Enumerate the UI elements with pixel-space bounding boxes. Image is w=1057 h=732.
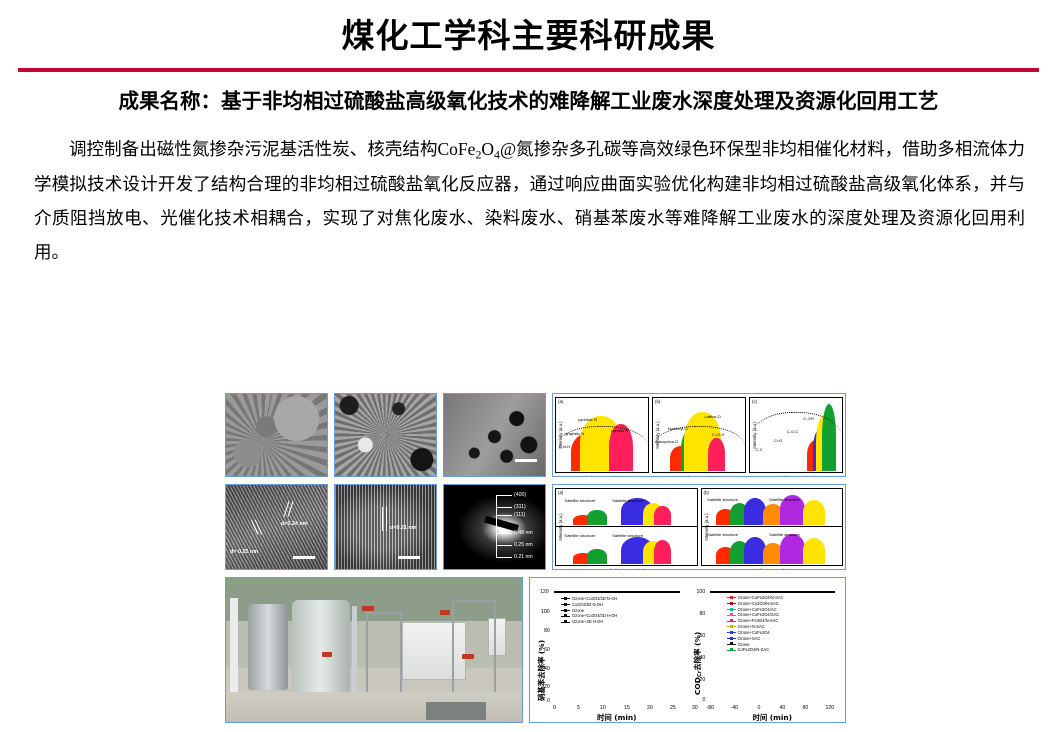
xps-panel-row-1: (a) Intensity (a.u.) pyridinic N graphit… <box>552 393 846 477</box>
saed-d-label-021: 0.21 nm <box>514 554 533 560</box>
legend-marker-icon <box>727 644 736 645</box>
xps-tag-co: (a) <box>558 490 563 495</box>
legend-marker-icon <box>727 626 736 627</box>
nb-xtick-25: 25 <box>670 705 676 711</box>
legend-marker-icon <box>561 598 570 599</box>
xps-peak-label-hydroxyl-o: Hydroxyl-O <box>668 426 688 431</box>
valve-handle-2 <box>322 652 332 657</box>
cod-ytick-80: 80 <box>700 611 706 617</box>
nb-ytick-120: 120 <box>540 589 549 595</box>
xps-co-label-sat-c: Satellite structure <box>564 533 595 538</box>
para-seg-2: O <box>481 139 494 159</box>
saed-d-label-048: 0.48 nm <box>514 530 533 536</box>
saed-tick-3 <box>496 533 512 534</box>
sem-magnetic-n-doped-sludge-carbon <box>225 393 328 477</box>
cod-ytick-100: 100 <box>697 589 706 595</box>
nb-ytick-80: 80 <box>544 628 550 634</box>
cod-xtick-120: 120 <box>826 705 835 711</box>
nb-xtick-5: 5 <box>577 705 580 711</box>
xps-xlabel-co: Binding energy (eV) <box>556 568 697 570</box>
saed-tick-2 <box>496 515 512 516</box>
d-spacing-label-025: d= 0.25 nm <box>230 549 258 555</box>
xps-xlabel-c: Binding energy (eV) <box>750 475 842 477</box>
cod-ytick-0: 0 <box>703 697 706 703</box>
legend-marker-icon <box>727 615 736 616</box>
nb-ytick-100: 100 <box>541 609 550 615</box>
saed-ring-label-111: (111) <box>514 512 525 518</box>
xps-fe-pk6-top <box>803 500 825 526</box>
xps-co-pk5-bot <box>654 540 671 564</box>
cod-xtick-0: 0 <box>758 705 761 711</box>
xps-envelope-o <box>653 426 745 471</box>
xps-peak-label-coh: C=O-H <box>712 432 725 437</box>
cod-xtick-80: 80 <box>803 705 809 711</box>
xps-co-splitter <box>556 526 697 527</box>
d-spacing-label-024: d=0.24 nm <box>281 521 308 527</box>
d-spacing-label-021: d=0.21 nm <box>390 525 417 531</box>
d-spacing-marker-c2 <box>386 507 387 531</box>
legend-marker-icon <box>561 604 570 605</box>
legend-item: CoFe2O4/N-SAC <box>727 647 784 653</box>
nb-chart-plot-area: Ozone+Co3O4/3D N-OH Co3O4/3D N-OH Ozone … <box>554 591 680 593</box>
xps-co-label-sat-d: Satellite structure <box>612 533 643 538</box>
scale-bar-icon <box>515 459 537 462</box>
result-name: 成果名称：基于非均相过硫酸盐高级氧化技术的难降解工业废水深度处理及资源化回用工艺 <box>62 86 995 118</box>
d-spacing-marker-c <box>382 507 383 531</box>
xps-co-pk5-top <box>654 506 671 526</box>
xps-peak-label-c-dbl-o: C=O <box>774 438 782 443</box>
hrtem-lattice-fringe-1: d=0.24 nm d= 0.25 nm <box>225 484 328 570</box>
saed-tick-1 <box>496 507 512 508</box>
cod-chart-legend: Ozone+CoFe2O4/N-SAC Ozone+Co3O4/N-SAC Oz… <box>727 595 784 653</box>
cod-chart-ylabel: CODCr去除率 (%) <box>692 632 703 695</box>
xps-chart-co2p: (a) Intensity (a.u.) Satellite st <box>555 488 698 566</box>
saed-ring-label-400: (400) <box>514 492 526 498</box>
xps-xlabel-fe: Binding energy (eV) <box>702 568 843 570</box>
xps-peak-label-graphitic: graphitic N <box>565 431 584 436</box>
legend-marker-icon <box>727 632 736 633</box>
xps-xlabel-b: Binding energy (eV) <box>653 475 745 477</box>
legend-marker-icon <box>561 622 570 623</box>
nb-xtick-15: 15 <box>624 705 630 711</box>
legend-marker-icon <box>727 609 736 610</box>
xps-xlabel-a: Binding energy (eV) <box>556 475 648 477</box>
title-divider <box>18 68 1039 72</box>
nb-xtick-20: 20 <box>647 705 653 711</box>
xps-co-label-sat-b: Satellite structure <box>612 498 643 503</box>
nb-ytick-40: 40 <box>544 666 550 672</box>
sem-core-shell-particles <box>334 393 437 477</box>
legend-marker-icon <box>561 616 570 617</box>
figure-grid: (a) Intensity (a.u.) pyridinic N graphit… <box>225 393 846 726</box>
legend-marker-icon <box>561 610 570 611</box>
xps-peak-label-c-c: C-C <box>756 447 763 452</box>
xps-co-pk2-bot <box>587 549 607 564</box>
legend-label: CoFe2O4/N-SAC <box>738 647 770 653</box>
para-seg-1: 调控制备出磁性氮掺杂污泥基活性炭、核壳结构CoFe <box>69 139 475 159</box>
saed-tick-5 <box>496 557 512 558</box>
xps-peak-label-pyrrolic: pyrrolic N <box>611 428 628 433</box>
xps-peak-label-cnh: C-N-H <box>559 444 570 449</box>
saed-tick-0 <box>496 495 512 496</box>
legend-item: Ozone+3D H-OH <box>561 619 617 625</box>
xps-peak-label-c-o-c: C-O-C <box>787 429 799 434</box>
cod-xtick-n40: -40 <box>731 705 739 711</box>
hrtem-lattice-fringe-2: d=0.21 nm <box>334 484 437 570</box>
saed-d-label-025: 0.25 nm <box>514 542 533 548</box>
figure-row-2: d=0.24 nm d= 0.25 nm d=0.21 nm (400) (31… <box>225 484 846 570</box>
xps-fe-pk6-bot <box>803 538 825 564</box>
xps-chart-c1s: (c) Intensity (a.u.) C-OH C-O-C C=O C-C … <box>749 397 843 473</box>
pilot-scale-wastewater-treatment-plant <box>225 577 523 723</box>
xps-fe-splitter <box>702 526 843 527</box>
valve-handle-3 <box>462 654 474 659</box>
nb-chart-legend: Ozone+Co3O4/3D N-OH Co3O4/3D N-OH Ozone … <box>561 596 617 625</box>
nb-xtick-10: 10 <box>600 705 606 711</box>
riser-pipe <box>352 606 357 698</box>
saed-tick-4 <box>496 545 512 546</box>
cod-ytick-60: 60 <box>700 633 706 639</box>
xps-chart-fe2p: (b) Intensity (a.u.) <box>701 488 844 566</box>
page-title: 煤化工学科主要科研成果 <box>0 0 1057 54</box>
saed-axis-line <box>496 495 497 557</box>
xps-peak-label-pyridinic: pyridinic N <box>578 417 597 422</box>
nb-xtick-0: 0 <box>553 705 556 711</box>
legend-marker-icon <box>727 621 736 622</box>
saed-diffraction-pattern: (400) (311) (111) 0.48 nm 0.25 nm 0.21 n… <box>443 484 546 570</box>
cod-ytick-40: 40 <box>700 655 706 661</box>
cod-chart-plot-area: Ozone+CoFe2O4/N-SAC Ozone+Co3O4/N-SAC Oz… <box>710 591 836 593</box>
performance-charts-panel: 硝基苯去除率 (%) Ozone+Co3O4/3D N-OH <box>529 577 846 723</box>
cod-xtick-n80: -80 <box>707 705 715 711</box>
xps-fe-label-sat-b: Satellite structure <box>769 497 800 502</box>
xps-tag-fe: (b) <box>704 490 709 495</box>
reactor-tank <box>248 604 288 690</box>
xps-tag-c: (c) <box>752 399 757 404</box>
xps-tag-b: (b) <box>655 399 660 404</box>
legend-marker-icon <box>727 638 736 639</box>
xps-peak-label-lattice-o: Lattice-O <box>705 414 721 419</box>
xps-fe-label-sat-d: Satellite structure <box>769 532 800 537</box>
nb-chart-xlabel: 时间 (min) <box>554 712 680 723</box>
xps-co-label-sat-a: Satellite structure <box>564 498 595 503</box>
legend-marker-icon <box>727 603 736 604</box>
abstract-paragraph: 调控制备出磁性氮掺杂污泥基活性炭、核壳结构CoFe2O4@氮掺杂多孔碳等高效绿色… <box>34 132 1025 269</box>
nb-ytick-20: 20 <box>544 684 550 690</box>
xps-fe-label-sat-c: Satellite structure <box>707 532 738 537</box>
cod-ytick-20: 20 <box>700 677 706 683</box>
floor-grate <box>426 702 486 720</box>
xps-co-pk2-top <box>587 510 607 525</box>
figure-row-1: (a) Intensity (a.u.) pyridinic N graphit… <box>225 393 846 477</box>
nb-ytick-0: 0 <box>547 698 550 704</box>
xps-peak-label-c-oh: C-OH <box>803 416 813 421</box>
saed-ring-label-311: (311) <box>514 504 526 510</box>
scale-bar-icon-2 <box>293 556 315 559</box>
xps-fe-pk5-bot <box>780 534 805 564</box>
valve-handle-4 <box>440 610 450 615</box>
cod-chart-xlabel: 时间 (min) <box>710 712 836 723</box>
legend-marker-icon <box>727 597 736 598</box>
valve-handle-1 <box>362 606 374 611</box>
cod-xtick-40: 40 <box>780 705 786 711</box>
xps-chart-n1s: (a) Intensity (a.u.) pyridinic N graphit… <box>555 397 649 473</box>
figure-row-3: 硝基苯去除率 (%) Ozone+Co3O4/3D N-OH <box>225 577 846 723</box>
xps-peak-label-adsorption-o: Adsorption-O <box>655 439 679 444</box>
storage-tank <box>292 600 350 692</box>
legend-marker-icon <box>727 650 736 651</box>
xps-chart-o1s: (b) Intensity (a.u.) Lattice-O Hydroxyl-… <box>652 397 746 473</box>
xps-envelope-c <box>750 412 842 471</box>
nb-ytick-60: 60 <box>544 647 550 653</box>
tem-cofe2o4-nanoparticles <box>443 393 546 477</box>
xps-fe-label-sat-a: Satellite structure <box>707 497 738 502</box>
legend-label: Ozone+3D H-OH <box>572 619 603 625</box>
slide-root: 煤化工学科主要科研成果 成果名称：基于非均相过硫酸盐高级氧化技术的难降解工业废水… <box>0 0 1057 732</box>
xps-panel-row-2: (a) Intensity (a.u.) Satellite st <box>552 484 846 570</box>
nb-xtick-30: 30 <box>692 705 698 711</box>
xps-tag-a: (a) <box>558 399 563 404</box>
scale-bar-icon-3 <box>398 556 420 559</box>
